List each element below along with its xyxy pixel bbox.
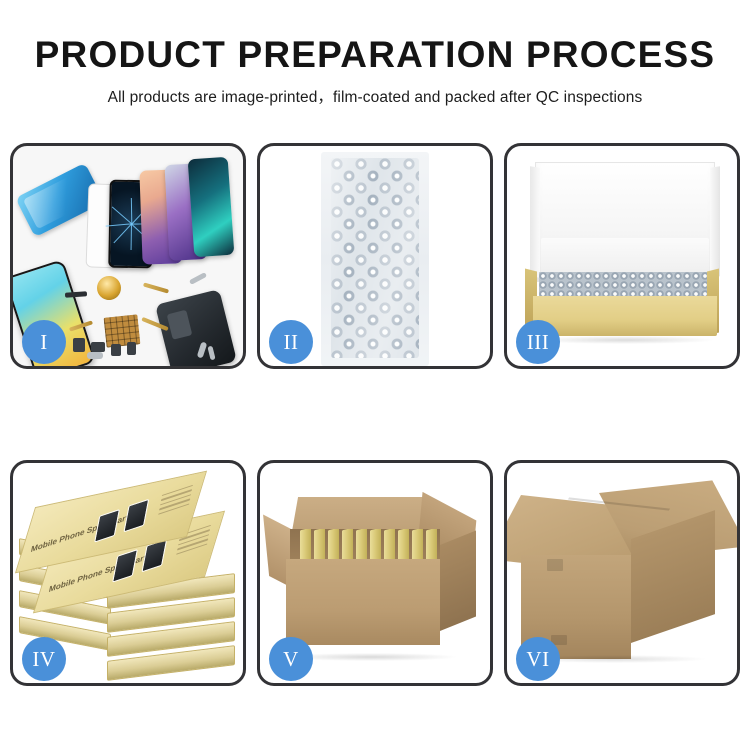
spare-part-tool [189, 272, 207, 285]
foam-liner [541, 238, 709, 274]
step-panel-5: V [257, 460, 493, 686]
spare-part-module [111, 344, 121, 356]
box-screen-thumbnail [94, 509, 120, 543]
header: PRODUCT PREPARATION PROCESS All products… [0, 0, 750, 107]
step-panel-3: III [504, 143, 740, 369]
phone-teal-gradient [188, 157, 235, 258]
carton-front-face [286, 559, 440, 645]
gold-coil-part [95, 274, 123, 302]
page-title: PRODUCT PREPARATION PROCESS [0, 34, 750, 76]
spare-part-module [73, 338, 85, 352]
step-panel-2: II [257, 143, 493, 369]
carton-right-side [440, 530, 476, 631]
carton-handle-tab [547, 559, 563, 571]
step-badge-1: I [22, 320, 66, 364]
process-step-grid: I II [10, 143, 740, 686]
step-badge-5: V [269, 637, 313, 681]
plastic-sheen-overlay [331, 158, 419, 358]
bubble-wrap-field [331, 158, 419, 358]
step-panel-4: Mobile Phone Spare Parts Mobile Phone Sp… [10, 460, 246, 686]
step-badge-6: VI [516, 637, 560, 681]
spare-part-module [127, 342, 136, 355]
drop-shadow [537, 336, 713, 344]
spare-part-bar [65, 291, 87, 298]
spare-part-flex-cable [143, 282, 169, 293]
kraft-box-front-wall [533, 296, 717, 336]
spare-part-bracket [87, 352, 103, 359]
page-subtitle: All products are image-printed，film-coat… [0, 85, 750, 107]
box-screen-thumbnail [112, 549, 138, 583]
box-screen-thumbnail [123, 499, 149, 533]
step-badge-3: III [516, 320, 560, 364]
product-preparation-infographic: PRODUCT PREPARATION PROCESS All products… [0, 0, 750, 750]
spare-part-module [91, 342, 105, 352]
step-badge-4: IV [22, 637, 66, 681]
box-spec-lines [158, 485, 193, 518]
step-panel-6: VI [504, 460, 740, 686]
step-badge-2: II [269, 320, 313, 364]
step-panel-1: I [10, 143, 246, 369]
